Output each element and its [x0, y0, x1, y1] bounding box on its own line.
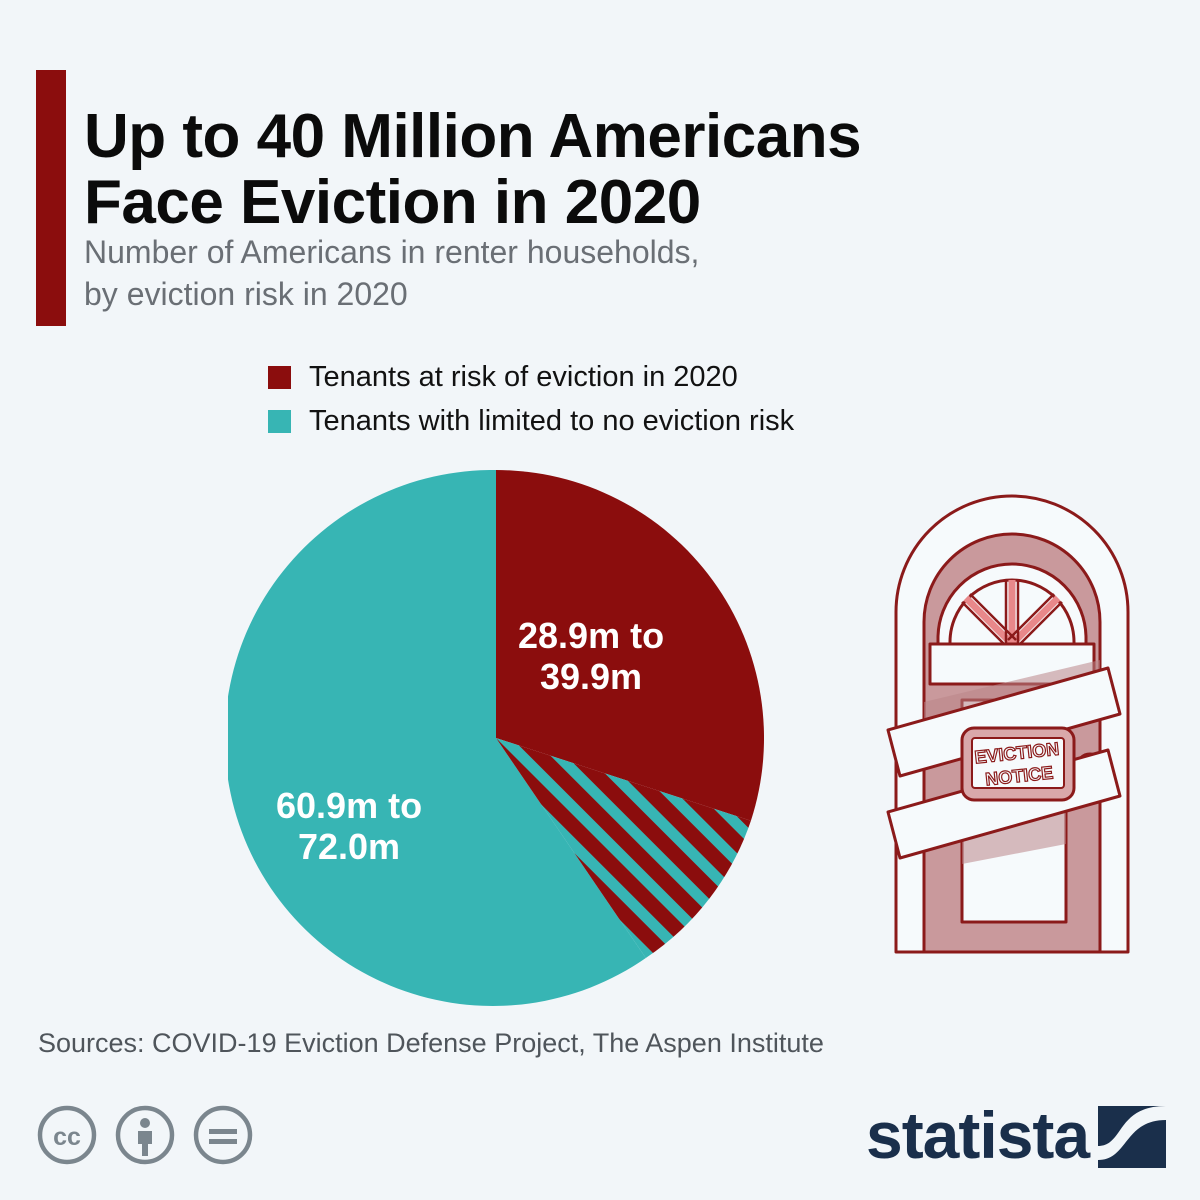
page-title: Up to 40 Million Americans Face Eviction… — [84, 104, 1064, 238]
pie-label-line-2: 39.9m — [518, 656, 664, 697]
legend-item-low-risk: Tenants with limited to no eviction risk — [268, 399, 794, 443]
cc-by-person-icon — [114, 1104, 176, 1166]
square-swatch-icon — [268, 366, 291, 389]
creative-commons-license: cc — [36, 1104, 254, 1166]
statista-wordmark: statista — [866, 1098, 1091, 1172]
pie-label-low-risk: 60.9m to 72.0m — [276, 785, 422, 867]
pie-label-line-2: 72.0m — [276, 826, 422, 867]
statista-logo-svg: statista — [866, 1098, 1166, 1176]
subtitle-line-2: by eviction risk in 2020 — [84, 274, 984, 316]
pie-label-at-risk: 28.9m to 39.9m — [518, 615, 664, 697]
square-swatch-icon — [268, 410, 291, 433]
page-subtitle: Number of Americans in renter households… — [84, 232, 984, 315]
legend-item-at-risk: Tenants at risk of eviction in 2020 — [268, 355, 794, 399]
title-accent-bar — [36, 70, 66, 326]
svg-text:cc: cc — [53, 1123, 81, 1151]
cc-icon: cc — [36, 1104, 98, 1166]
door-icon: EVICTION NOTICE — [862, 462, 1162, 962]
statista-mark-icon — [1098, 1106, 1166, 1168]
cc-nd-equals-icon — [192, 1104, 254, 1166]
statista-logo: statista — [866, 1098, 1166, 1176]
pie-chart: 28.9m to 39.9m 60.9m to 72.0m — [228, 470, 764, 1006]
sources-text: Sources: COVID-19 Eviction Defense Proje… — [38, 1028, 824, 1059]
pie-chart-svg — [228, 470, 764, 1006]
chart-legend: Tenants at risk of eviction in 2020 Tena… — [268, 355, 794, 443]
legend-item-label: Tenants at risk of eviction in 2020 — [309, 363, 738, 392]
title-line-1: Up to 40 Million Americans — [84, 104, 1064, 171]
pie-label-line-1: 28.9m to — [518, 615, 664, 656]
pie-label-line-1: 60.9m to — [276, 785, 422, 826]
title-line-2: Face Eviction in 2020 — [84, 170, 1064, 237]
legend-item-label: Tenants with limited to no eviction risk — [309, 407, 794, 436]
subtitle-line-1: Number of Americans in renter households… — [84, 232, 984, 274]
boarded-up-door-illustration: EVICTION NOTICE — [862, 462, 1162, 962]
infographic-root: Up to 40 Million Americans Face Eviction… — [0, 0, 1200, 1200]
